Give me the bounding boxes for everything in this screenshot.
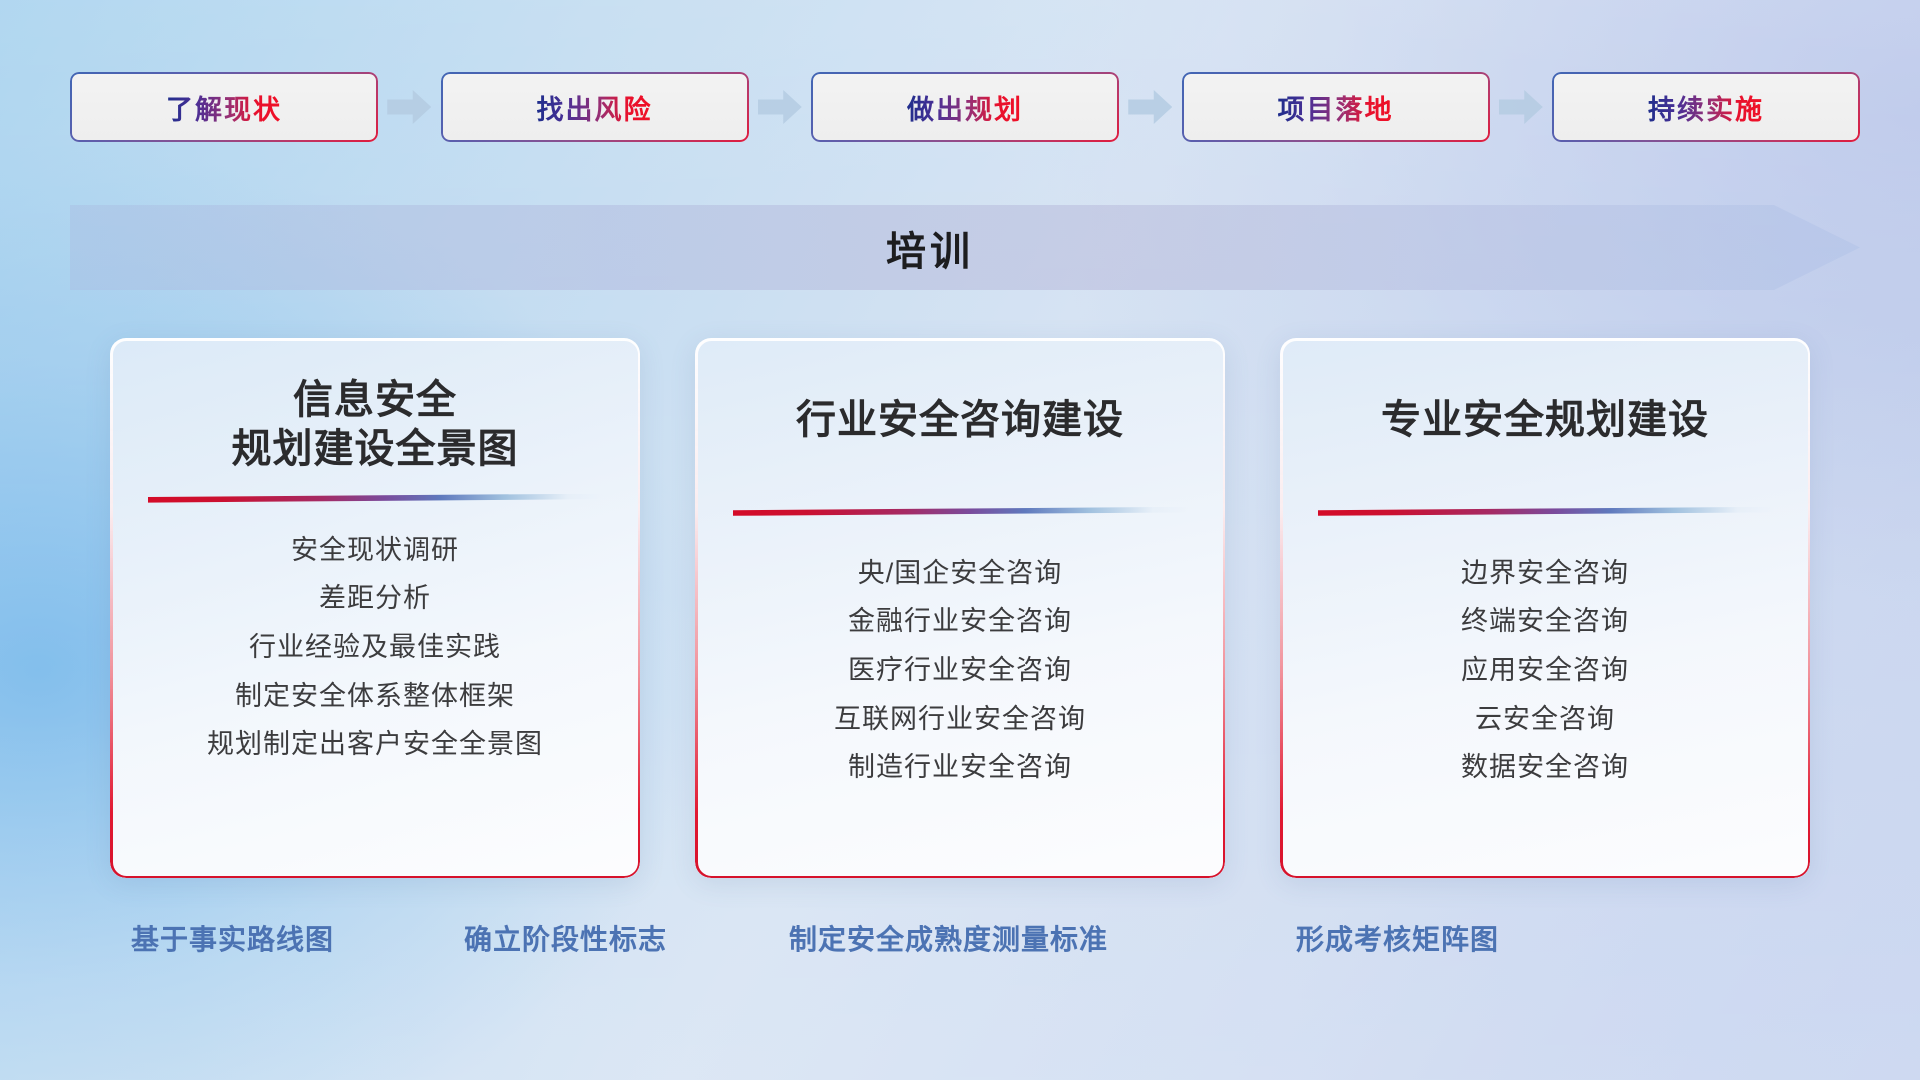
right-arrow-icon [1499,90,1543,124]
list-item: 终端安全咨询 [1461,600,1629,643]
flow-step-label: 找出风险 [537,88,653,127]
list-item: 应用安全咨询 [1461,649,1629,692]
list-item: 数据安全咨询 [1461,746,1629,789]
flow-step-1[interactable]: 了解现状 [70,72,378,142]
list-item: 央/国企安全咨询 [858,552,1063,595]
training-banner: 培训 [70,205,1860,290]
card-information-security-blueprint[interactable]: 信息安全 规划建设全景图 安全现状调研 差距分析 行业经验及最佳实践 制定安全体… [110,338,640,878]
flow-step-label: 项目落地 [1278,88,1394,127]
card-industry-security-consulting[interactable]: 行业安全咨询建设 央/国企安全咨询 金融行业安全咨询 医疗行业安全咨询 互联网行… [695,338,1225,878]
flow-step-label: 了解现状 [166,88,282,127]
flow-step-3[interactable]: 做出规划 [811,72,1119,142]
flow-step-5[interactable]: 持续实施 [1552,72,1860,142]
card-title: 行业安全咨询建设 [725,396,1195,445]
card-divider [733,507,1189,516]
list-item: 云安全咨询 [1475,698,1615,741]
caption-label: 确立阶段性标志 [464,918,667,958]
card-item-list: 央/国企安全咨询 金融行业安全咨询 医疗行业安全咨询 互联网行业安全咨询 制造行… [725,516,1195,852]
cards-row: 信息安全 规划建设全景图 安全现状调研 差距分析 行业经验及最佳实践 制定安全体… [110,338,1810,878]
card-professional-security-planning[interactable]: 专业安全规划建设 边界安全咨询 终端安全咨询 应用安全咨询 云安全咨询 数据安全… [1280,338,1810,878]
right-arrow-icon [387,90,431,124]
list-item: 制定安全体系整体框架 [235,675,515,718]
caption-label: 基于事实路线图 [131,918,334,958]
caption-label: 形成考核矩阵图 [1296,918,1499,958]
flow-step-4[interactable]: 项目落地 [1182,72,1490,142]
card-title: 信息安全 规划建设全景图 [140,376,610,474]
list-item: 制造行业安全咨询 [848,746,1072,789]
process-flow-row: 了解现状 找出风险 做出规划 项目落地 持续实施 [70,72,1860,142]
right-arrow-icon [758,90,802,124]
list-item: 医疗行业安全咨询 [848,649,1072,692]
card-item-list: 边界安全咨询 终端安全咨询 应用安全咨询 云安全咨询 数据安全咨询 [1310,516,1780,852]
flow-step-label: 持续实施 [1648,88,1764,127]
flow-step-label: 做出规划 [907,88,1023,127]
list-item: 差距分析 [319,577,431,620]
list-item: 行业经验及最佳实践 [249,626,501,669]
list-item: 边界安全咨询 [1461,552,1629,595]
card-title: 专业安全规划建设 [1310,396,1780,445]
list-item: 安全现状调研 [291,529,459,572]
training-banner-label: 培训 [886,219,974,277]
flow-step-2[interactable]: 找出风险 [441,72,749,142]
caption-row: 基于事实路线图 确立阶段性标志 制定安全成熟度测量标准 形成考核矩阵图 [0,918,1920,968]
right-arrow-icon [1128,90,1172,124]
card-divider [1318,507,1774,516]
card-divider [148,494,604,503]
list-item: 互联网行业安全咨询 [834,698,1086,741]
list-item: 金融行业安全咨询 [848,600,1072,643]
caption-label: 制定安全成熟度测量标准 [789,918,1108,958]
list-item: 规划制定出客户安全全景图 [207,723,543,766]
card-item-list: 安全现状调研 差距分析 行业经验及最佳实践 制定安全体系整体框架 规划制定出客户… [140,503,610,852]
